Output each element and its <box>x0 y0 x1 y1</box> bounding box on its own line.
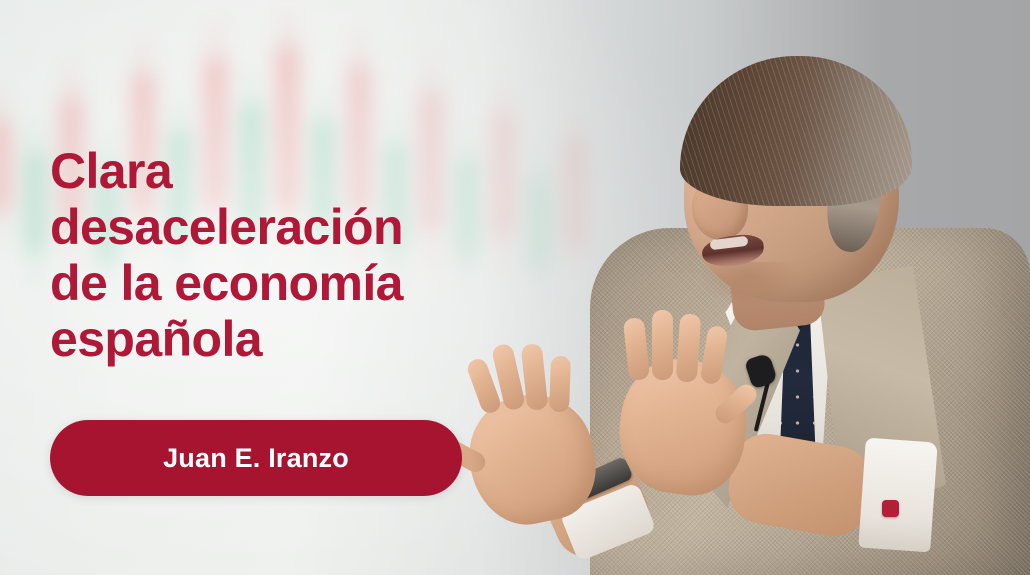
page-title: Clara desaceleración de la economía espa… <box>50 143 403 367</box>
cufflink-icon <box>882 500 899 517</box>
speaker-name-label: Juan E. Iranzo <box>163 443 349 474</box>
speaker-photo <box>430 0 1030 575</box>
chin-shadow <box>698 262 798 306</box>
finger-l4 <box>549 356 571 413</box>
headline-line-1: Clara <box>50 143 403 199</box>
finger-r2 <box>652 310 673 380</box>
shirt-cuff-right <box>858 438 937 553</box>
speaker-name-badge[interactable]: Juan E. Iranzo <box>50 420 462 496</box>
hair-strands <box>680 56 912 206</box>
slide-canvas: Clara desaceleración de la economía espa… <box>0 0 1030 575</box>
headline-line-2: desaceleración <box>50 199 403 255</box>
headline-line-3: de la economía <box>50 255 403 311</box>
headline-line-4: española <box>50 311 403 367</box>
